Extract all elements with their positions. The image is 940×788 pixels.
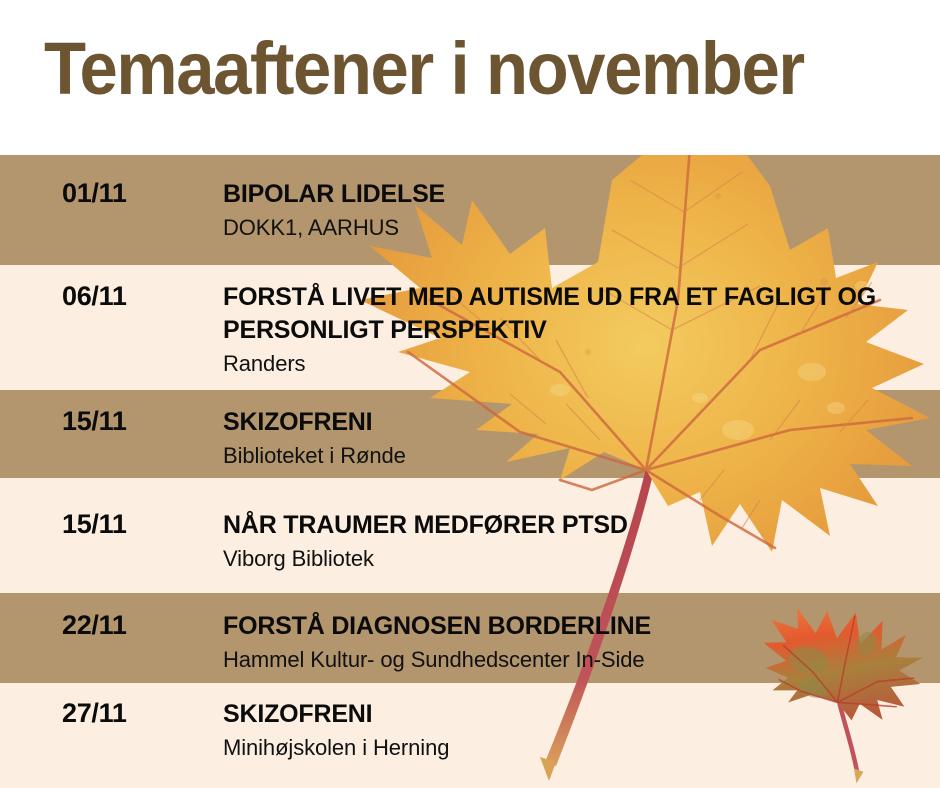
event-date: 27/11 bbox=[62, 698, 127, 729]
event-body: FORSTÅ LIVET MED AUTISME UD FRA ET FAGLI… bbox=[223, 281, 923, 378]
event-venue: Randers bbox=[223, 349, 923, 378]
event-venue: Minihøjskolen i Herning bbox=[223, 733, 923, 762]
event-body: SKIZOFRENI Minihøjskolen i Herning bbox=[223, 698, 923, 762]
event-date: 01/11 bbox=[62, 178, 127, 209]
poster-canvas: Temaaftener i november 01/11 BIPOLAR LID… bbox=[0, 0, 940, 788]
title-bar: Temaaftener i november bbox=[0, 0, 940, 155]
event-date: 06/11 bbox=[62, 281, 127, 312]
event-title: FORSTÅ LIVET MED AUTISME UD FRA ET FAGLI… bbox=[223, 281, 923, 347]
event-venue: DOKK1, AARHUS bbox=[223, 213, 923, 242]
event-venue: Biblioteket i Rønde bbox=[223, 441, 923, 470]
event-title: SKIZOFRENI bbox=[223, 698, 923, 731]
event-body: BIPOLAR LIDELSE DOKK1, AARHUS bbox=[223, 178, 923, 242]
event-date: 15/11 bbox=[62, 509, 127, 540]
page-title: Temaaftener i november bbox=[44, 28, 804, 110]
event-body: NÅR TRAUMER MEDFØRER PTSD Viborg Bibliot… bbox=[223, 509, 923, 573]
event-venue: Viborg Bibliotek bbox=[223, 544, 923, 573]
event-date: 15/11 bbox=[62, 406, 127, 437]
event-date: 22/11 bbox=[62, 610, 127, 641]
event-body: FORSTÅ DIAGNOSEN BORDERLINE Hammel Kultu… bbox=[223, 610, 923, 674]
event-title: NÅR TRAUMER MEDFØRER PTSD bbox=[223, 509, 923, 542]
event-title: BIPOLAR LIDELSE bbox=[223, 178, 923, 211]
event-venue: Hammel Kultur- og Sundhedscenter In-Side bbox=[223, 645, 923, 674]
event-title: SKIZOFRENI bbox=[223, 406, 923, 439]
event-title: FORSTÅ DIAGNOSEN BORDERLINE bbox=[223, 610, 923, 643]
event-body: SKIZOFRENI Biblioteket i Rønde bbox=[223, 406, 923, 470]
